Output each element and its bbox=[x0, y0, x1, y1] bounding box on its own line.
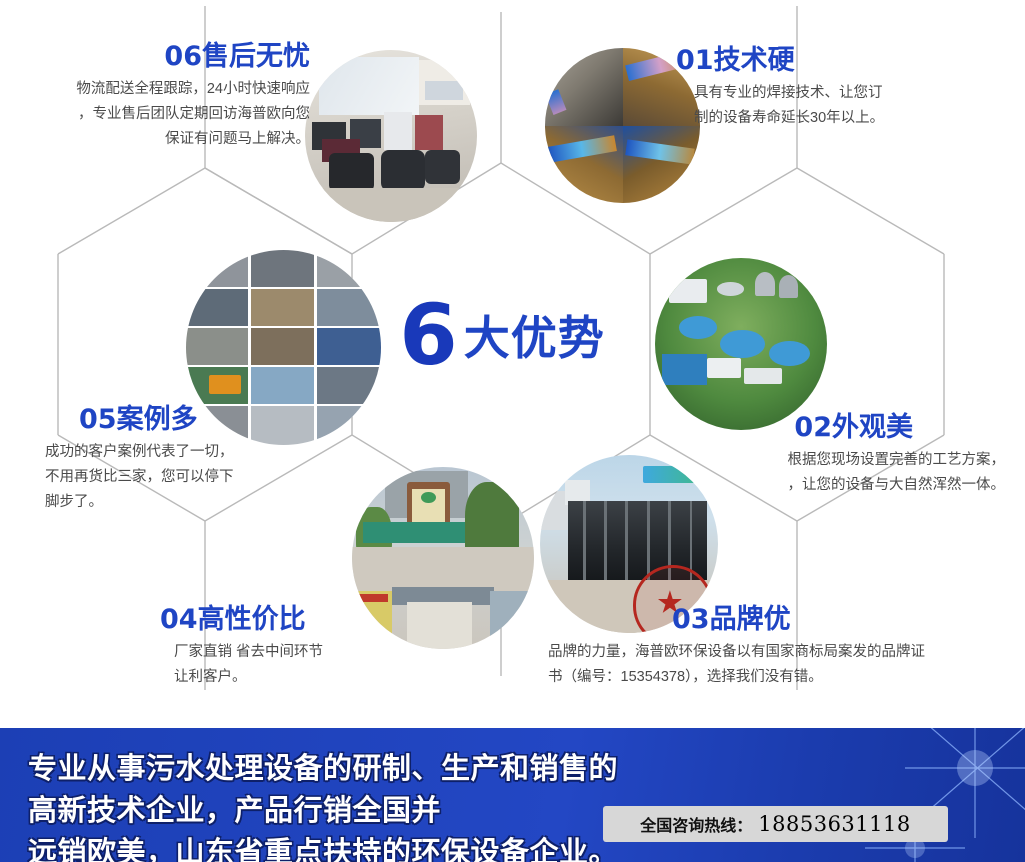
hotline-box[interactable]: 全国咨询热线： 18853631118 bbox=[603, 806, 948, 842]
feature-block-01: 01技术硬 具有专业的焊接技术、让您订 制的设备寿命延长30年以上。 bbox=[676, 46, 1006, 131]
feature-body-04: 厂家直销 省去中间环节 让利客户。 bbox=[160, 640, 490, 691]
feature-body-01: 具有专业的焊接技术、让您订 制的设备寿命延长30年以上。 bbox=[676, 81, 1006, 132]
feature-title-01: 技术硬 bbox=[714, 45, 795, 75]
feature-body-line: 不用再货比三家，您可以停下 bbox=[45, 465, 345, 490]
feature-heading-04: 04高性价比 bbox=[160, 605, 490, 635]
center-title-number: 6 bbox=[399, 293, 455, 377]
feature-title-03: 品牌优 bbox=[710, 604, 791, 634]
feature-number-01: 01 bbox=[676, 45, 714, 76]
feature-body-line: 物流配送全程跟踪，24小时快速响应 bbox=[10, 77, 310, 102]
feature-heading-02: 02外观美 bbox=[660, 413, 1005, 443]
feature-body-line: 根据您现场设置完善的工艺方案， bbox=[660, 448, 1005, 473]
center-title: 6 大优势 bbox=[352, 285, 652, 385]
center-title-label: 大优势 bbox=[464, 302, 605, 368]
hotline-label: 全国咨询热线： bbox=[640, 812, 752, 836]
hotline-number: 18853631118 bbox=[758, 812, 910, 836]
feature-heading-03: 03品牌优 bbox=[530, 605, 1020, 635]
feature-body-line: ，让您的设备与大自然浑然一体。 bbox=[660, 473, 1005, 498]
advantages-infographic: 6 大优势 06售后无忧 物流配送全程跟踪，24小时快速响应 ，专业售后团队定期… bbox=[0, 0, 1025, 862]
feature-block-03: 03品牌优 品牌的力量，海普欧环保设备以有国家商标局案发的品牌证 书（编号：15… bbox=[530, 605, 1020, 690]
feature-body-06: 物流配送全程跟踪，24小时快速响应 ，专业售后团队定期回访海普欧向您 保证有问题… bbox=[10, 77, 310, 153]
feature-body-line: ，专业售后团队定期回访海普欧向您 bbox=[10, 102, 310, 127]
feature-body-line: 具有专业的焊接技术、让您订 bbox=[694, 81, 1006, 106]
feature-heading-01: 01技术硬 bbox=[676, 46, 1006, 76]
feature-heading-05: 05案例多 bbox=[45, 405, 345, 435]
feature-body-line: 成功的客户案例代表了一切， bbox=[45, 440, 345, 465]
feature-block-05: 05案例多 成功的客户案例代表了一切， 不用再货比三家，您可以停下 脚步了。 bbox=[45, 405, 345, 516]
feature-title-04: 高性价比 bbox=[198, 604, 306, 634]
feature-body-line: 品牌的力量，海普欧环保设备以有国家商标局案发的品牌证 bbox=[548, 640, 1020, 665]
feature-number-06: 06 bbox=[164, 41, 202, 72]
feature-title-02: 外观美 bbox=[832, 412, 913, 442]
banner-line-2: 远销欧美，山东省重点扶持的环保设备企业。 bbox=[28, 832, 628, 862]
banner-line-1: 专业从事污水处理设备的研制、生产和销售的高新技术企业，产品行销全国并 bbox=[28, 748, 628, 832]
feature-number-03: 03 bbox=[672, 604, 710, 635]
feature-body-line: 书（编号：15354378），选择我们没有错。 bbox=[548, 665, 1020, 690]
banner-text: 专业从事污水处理设备的研制、生产和销售的高新技术企业，产品行销全国并 远销欧美，… bbox=[28, 748, 628, 862]
feature-heading-06: 06售后无忧 bbox=[10, 42, 310, 72]
feature-body-line: 保证有问题马上解决。 bbox=[10, 127, 310, 152]
feature-body-line: 厂家直销 省去中间环节 bbox=[174, 640, 490, 665]
feature-title-05: 案例多 bbox=[117, 404, 198, 434]
feature-image-06 bbox=[305, 50, 477, 222]
feature-number-04: 04 bbox=[160, 604, 198, 635]
feature-number-05: 05 bbox=[79, 404, 117, 435]
feature-body-line: 脚步了。 bbox=[45, 490, 345, 515]
feature-block-02: 02外观美 根据您现场设置完善的工艺方案， ，让您的设备与大自然浑然一体。 bbox=[660, 413, 1005, 498]
feature-block-04: 04高性价比 厂家直销 省去中间环节 让利客户。 bbox=[160, 605, 490, 690]
feature-number-02: 02 bbox=[794, 412, 832, 443]
feature-body-05: 成功的客户案例代表了一切， 不用再货比三家，您可以停下 脚步了。 bbox=[45, 440, 345, 516]
feature-body-line: 让利客户。 bbox=[174, 665, 490, 690]
feature-image-02 bbox=[655, 258, 827, 430]
feature-body-line: 制的设备寿命延长30年以上。 bbox=[694, 106, 1006, 131]
feature-body-03: 品牌的力量，海普欧环保设备以有国家商标局案发的品牌证 书（编号：15354378… bbox=[530, 640, 1020, 691]
feature-body-02: 根据您现场设置完善的工艺方案， ，让您的设备与大自然浑然一体。 bbox=[660, 448, 1005, 499]
feature-block-06: 06售后无忧 物流配送全程跟踪，24小时快速响应 ，专业售后团队定期回访海普欧向… bbox=[10, 42, 310, 153]
feature-title-06: 售后无忧 bbox=[202, 41, 310, 71]
